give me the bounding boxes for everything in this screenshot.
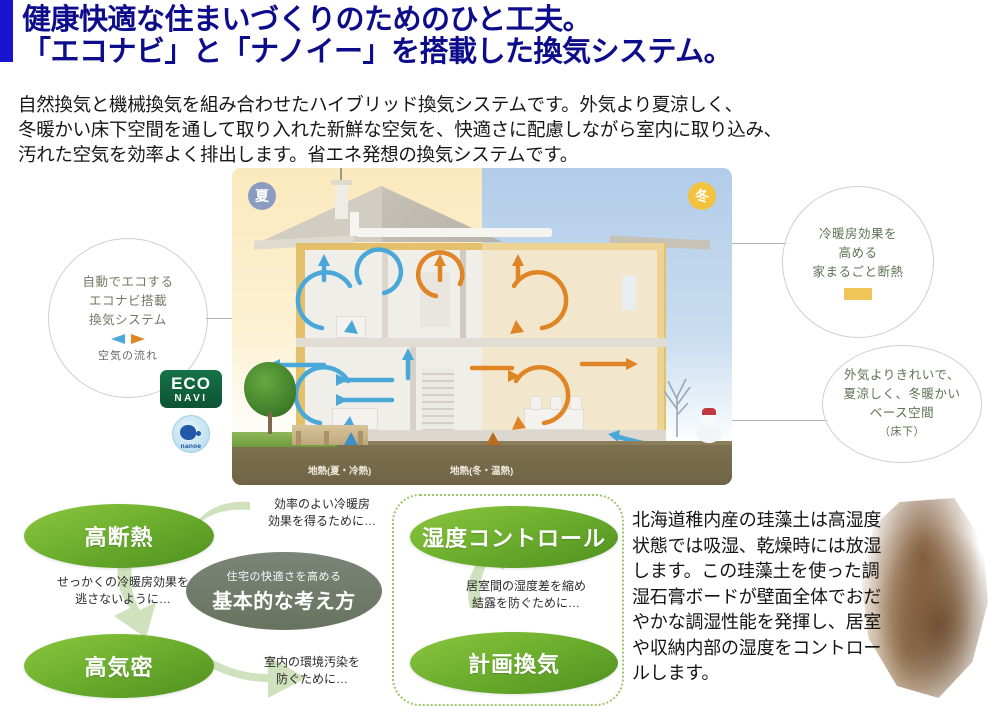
ceiling-duct [356,228,552,237]
furniture-dining-table [524,408,584,430]
nanoe-logo-label: nanoe [173,443,209,450]
upper-hall [420,272,450,327]
house-cross-section-diagram: 夏 冬 [232,168,732,485]
insulation-color-swatch [844,288,872,300]
diatom-line-6: や収納内部の湿度をコントロー [632,636,992,662]
diatom-line-3: します。この珪藻土を使った調 [632,559,992,585]
oval-high-insulation-label: 高断熱 [84,520,153,552]
snowman-icon [696,409,722,443]
oval-high-airtightness: 高気密 [24,634,214,698]
oval-humidity-control: 湿度コントロール [410,506,618,568]
diatom-line-5: やかな調湿性能を発揮し、居室 [632,610,992,636]
intro-line-1: 自然換気と機械換気を組み合わせたハイブリッド換気システムです。外気より夏涼しく、 [18,92,983,117]
interior-wall-right [460,250,466,338]
airflow-legend [111,334,145,344]
season-badge-winter: 冬 [688,182,716,210]
note-no-leak-line-2: 逃さないように… [28,591,218,608]
title-accent-bar [0,0,13,62]
callout-base-line-4: （床下） [879,423,925,442]
concept-center-main: 基本的な考え方 [212,585,356,614]
mid-floor-slab [296,338,666,347]
callout-econavi-line-2: エコナビ搭載 [89,292,167,311]
note-pollution-line-1: 室内の環境汚染を [232,654,392,671]
callout-base-line-2: 夏涼しく、冬暖かい [843,385,960,404]
nanoe-logo: nanoe [172,415,210,453]
diatom-line-4: 湿石膏ボードが壁面全体でおだ [632,585,992,611]
intro-line-3: 汚れた空気を効率よく排出します。省エネ発想の換気システムです。 [18,142,983,167]
geothermal-arrow-summer [344,432,358,445]
note-condensation-line-2: 結露を防ぐために… [436,595,616,612]
note-pollution: 室内の環境汚染を 防ぐために… [232,654,392,688]
callout-econavi-line-3: 換気システム [89,311,167,330]
furniture-chair-1 [530,396,542,410]
summer-tree-icon [244,362,296,432]
concept-diagram: 高断熱 高気密 湿度コントロール 計画換気 住宅の快適さを高める 基本的な考え方… [18,492,630,712]
callout-base-space: 外気よりきれいで、 夏涼しく、冬暖かい ベース空間 （床下） [822,345,982,463]
tree-trunk [268,412,272,434]
note-efficient-hvac-line-2: 効果を得るために… [242,513,402,530]
title-line-2: 「エコナビ」と「ナノイー」を搭載した換気システム。 [22,36,722,68]
deck-post-1 [296,431,301,445]
staircase [422,368,454,430]
note-no-leak: せっかくの冷暖房効果を 逃さないように… [28,574,218,608]
diatom-line-2: 状態では吸湿、乾燥時には放湿 [632,534,992,560]
diatom-line-1: 北海道稚内産の珪藻土は高湿度 [632,508,992,534]
winter-bare-tree-icon [654,365,700,437]
geothermal-label-winter: 地熱(冬・温熱) [450,463,513,477]
callout-insulation-line-3: 家まるごと断熱 [812,263,903,282]
callout-econavi-line-1: 自動でエコする [82,273,173,292]
oval-planned-ventilation-label: 計画換気 [468,647,560,679]
airflow-legend-label: 空気の流れ [98,347,158,363]
warm-air-arrow-icon [131,334,145,344]
deck-post-2 [324,431,329,445]
econavi-logo: ECO NAVI [160,370,222,408]
snowman-hat [702,408,716,415]
note-efficient-hvac: 効率のよい冷暖房 効果を得るために… [242,496,402,530]
geothermal-label-summer: 地熱(夏・冷熱) [308,463,371,477]
note-condensation: 居室間の湿度差を縮め 結露を防ぐために… [436,578,616,612]
interior-wall-lower [410,347,416,430]
note-no-leak-line-1: せっかくの冷暖房効果を [28,574,218,591]
title-line-1: 健康快適な住まいづくりのためのひと工夫。 [22,4,722,36]
oval-high-insulation: 高断熱 [24,504,214,568]
callout-base-line-1: 外気よりきれいで、 [844,366,960,385]
furniture-desk-upper [336,316,366,338]
note-efficient-hvac-line-1: 効率のよい冷暖房 [242,496,402,513]
note-condensation-line-1: 居室間の湿度差を縮め [436,578,616,595]
tree-crown [244,362,296,417]
furniture-chair-3 [570,396,582,410]
callout-base-line-3: ベース空間 [870,404,934,423]
chimney [335,185,348,219]
diatom-line-7: ルします。 [632,661,992,687]
econavi-logo-bottom: NAVI [174,394,207,404]
geothermal-arrow-winter [486,432,500,445]
econavi-logo-top: ECO [171,375,211,392]
cool-air-arrow-icon [111,334,125,344]
concept-center-sub: 住宅の快適さを高める [227,568,342,584]
page-title: 健康快適な住まいづくりのためのひと工夫。 「エコナビ」と「ナノイー」を搭載した換… [22,4,722,68]
interior-wall-left [382,250,388,338]
intro-line-2: 冬暖かい床下空間を通して取り入れた新鮮な空気を、快適さに配慮しながら室内に取り込… [18,117,983,142]
callout-insulation-line-2: 高める [838,244,877,263]
deck-post-3 [358,431,363,445]
callout-insulation-line-1: 冷暖房効果を [819,225,897,244]
callout-whole-house-insulation: 冷暖房効果を 高める 家まるごと断熱 [782,186,934,338]
oval-humidity-control-label: 湿度コントロール [422,521,606,553]
diatomaceous-earth-text: 北海道稚内産の珪藻土は高湿度 状態では吸湿、乾燥時には放湿 します。この珪藻土を… [632,508,992,687]
window-upper-right [622,276,636,310]
note-pollution-line-2: 防ぐために… [232,671,392,688]
oval-high-airtightness-label: 高気密 [84,650,153,682]
furniture-chair-2 [550,396,562,410]
infographic-page: 健康快適な住まいづくりのためのひと工夫。 「エコナビ」と「ナノイー」を搭載した換… [0,0,1000,720]
intro-paragraph: 自然換気と機械換気を組み合わせたハイブリッド換気システムです。外気より夏涼しく、… [18,92,983,167]
oval-planned-ventilation: 計画換気 [410,632,618,694]
nanoe-dot-icon [196,431,201,436]
nanoe-blob-icon [180,425,196,440]
